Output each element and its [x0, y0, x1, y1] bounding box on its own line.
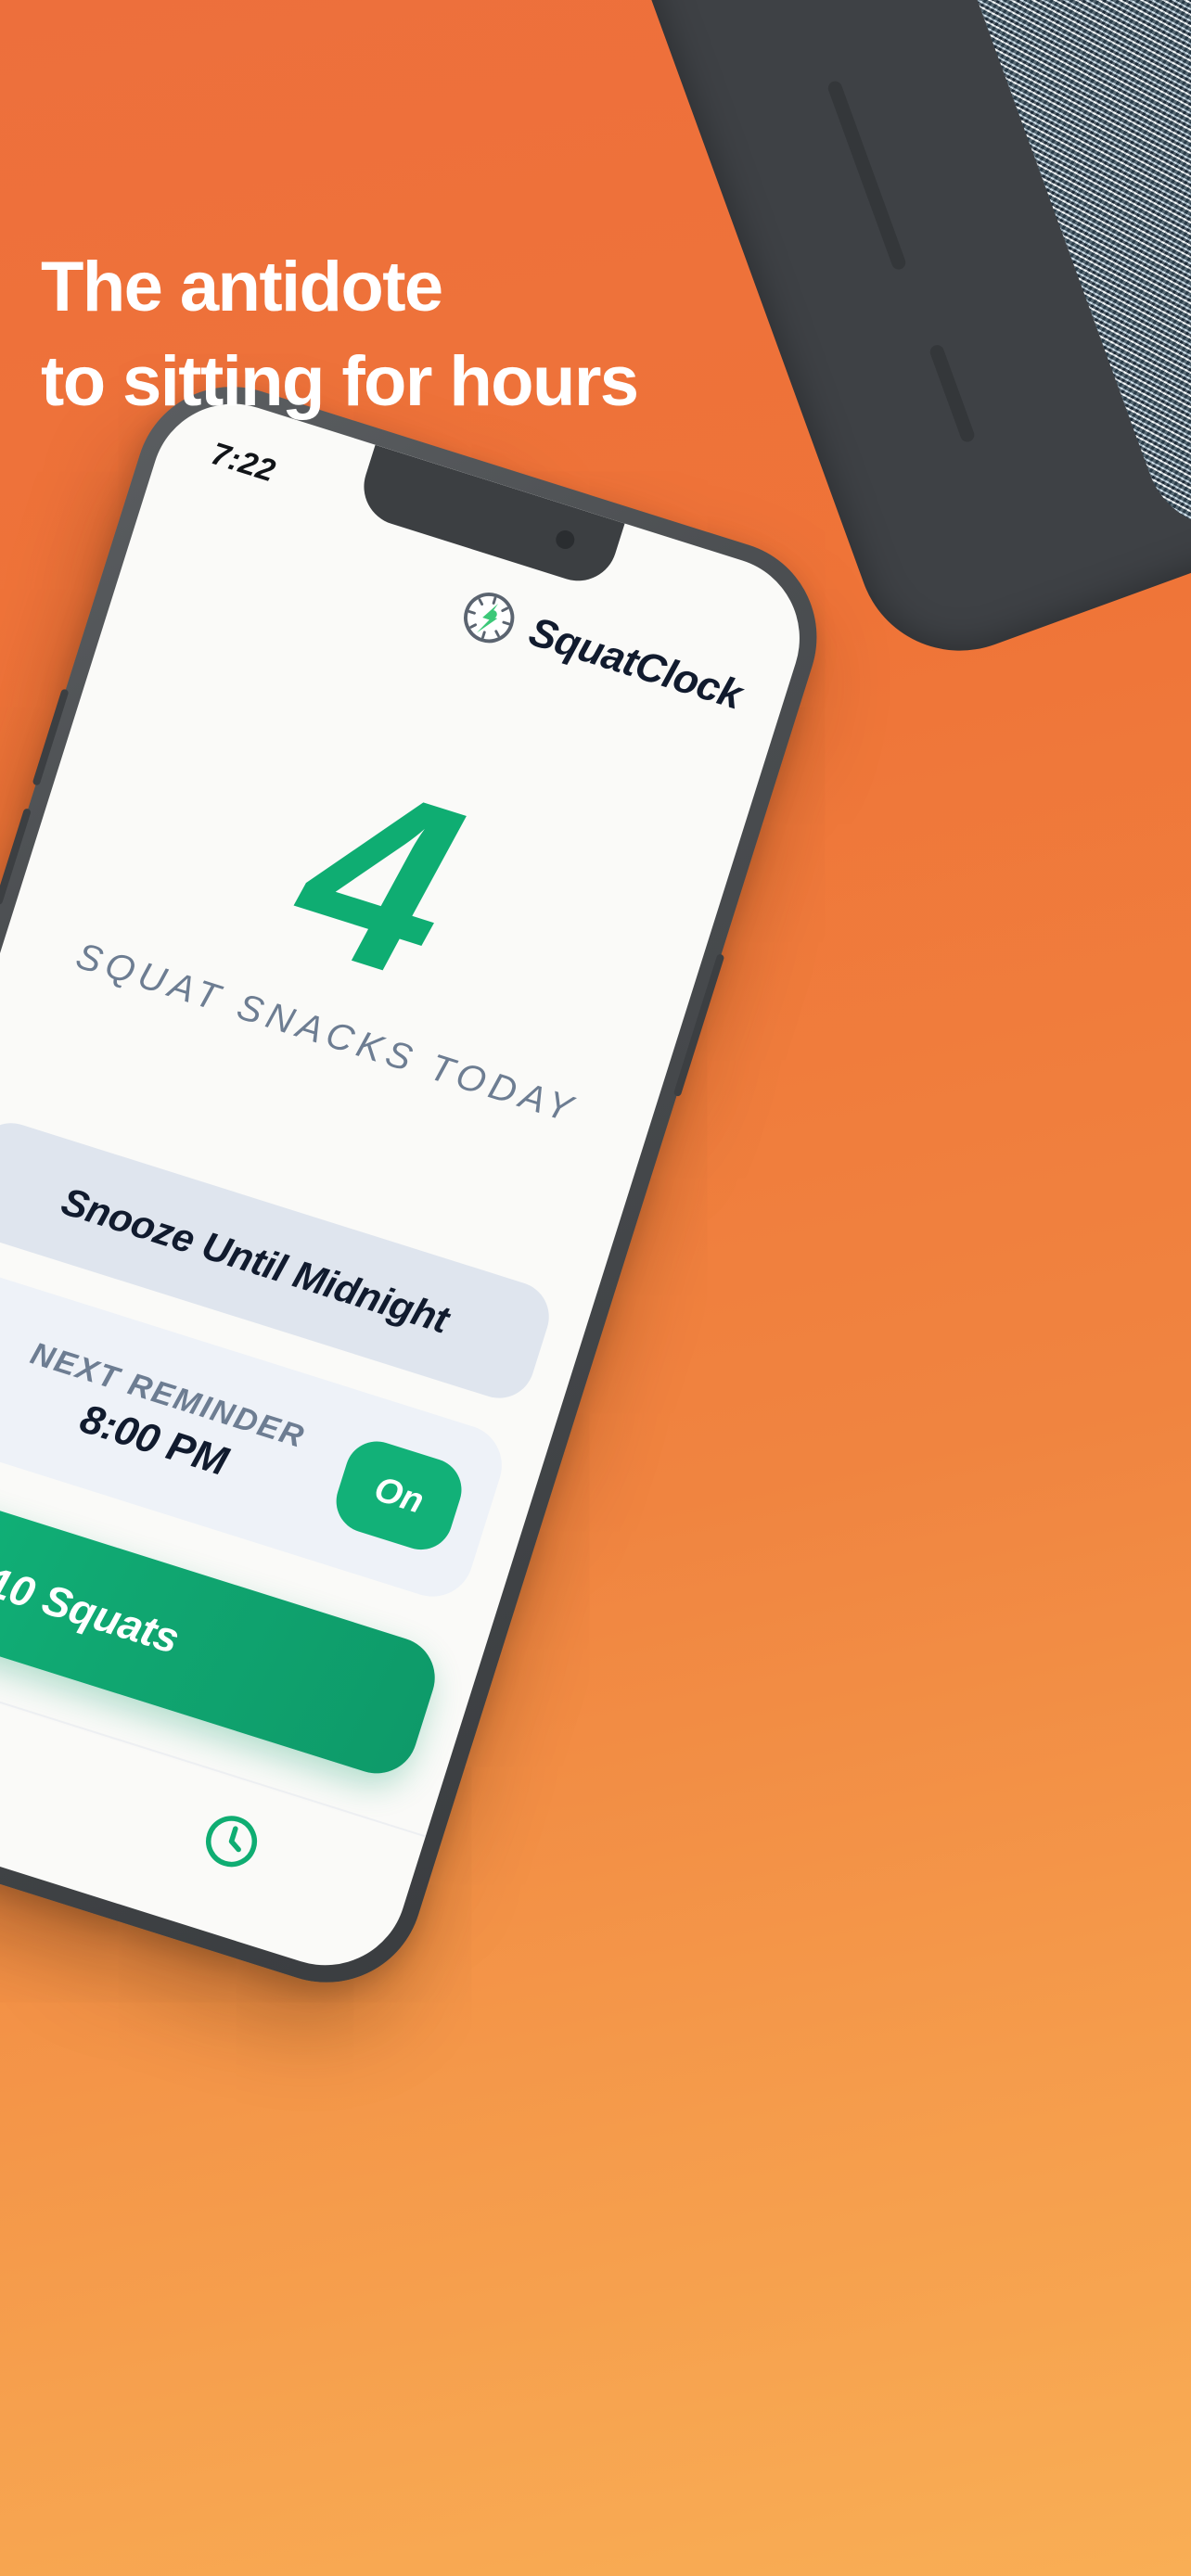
- squat-count-value: 4: [278, 749, 473, 1009]
- phone-mockup: 7:22: [0, 363, 841, 2008]
- headline-line-1: The antidote: [41, 248, 442, 326]
- reminder-toggle-label: On: [369, 1469, 428, 1522]
- promo-screenshot: The antidote to sitting for hours 7:22: [0, 0, 1191, 2576]
- clock-icon: [192, 1803, 270, 1884]
- promo-headline: The antidote to sitting for hours: [41, 252, 839, 417]
- background-device-power-button: [928, 343, 977, 443]
- tab-clock[interactable]: [192, 1803, 270, 1884]
- log-squats-button-label: Log 10 Squats: [0, 1530, 186, 1664]
- headline-line-2: to sitting for hours: [41, 347, 839, 417]
- phone-screen: 7:22: [0, 383, 820, 1985]
- reminder-text-group: NEXT REMINDER 8:00 PM: [0, 1326, 339, 1515]
- squatclock-app: 7:22: [0, 383, 820, 1985]
- status-bar-time: 7:22: [207, 436, 280, 490]
- front-camera-icon: [554, 528, 577, 551]
- background-device-volume-button: [826, 79, 908, 271]
- reminder-toggle[interactable]: On: [328, 1434, 469, 1558]
